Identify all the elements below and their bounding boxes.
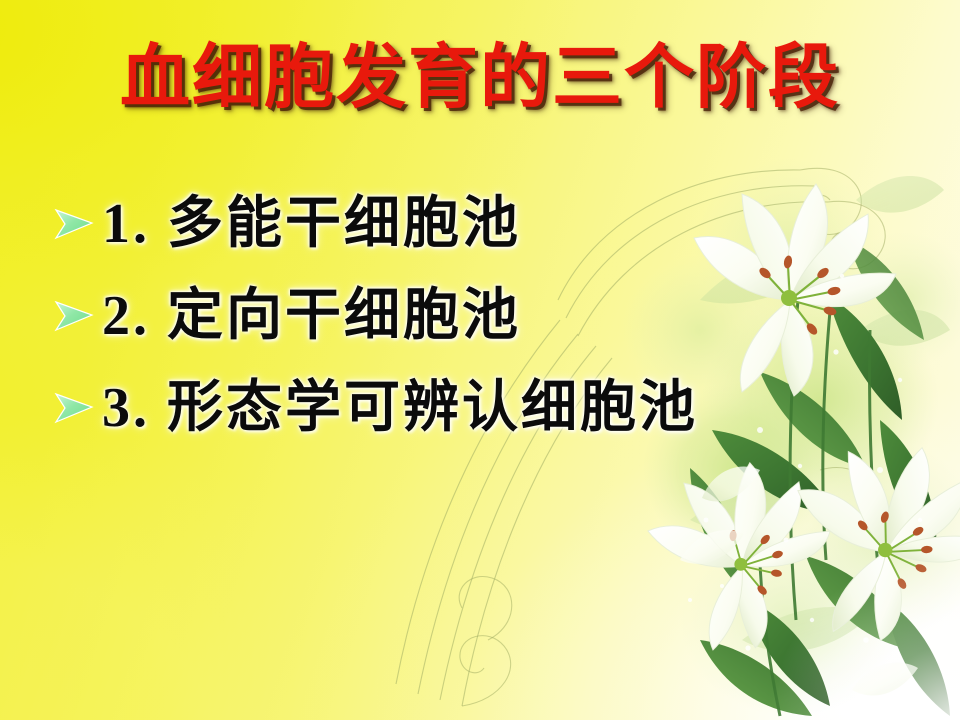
bullet-item-2: 2. 定向干细胞池 [52, 270, 912, 362]
bullet-item-3-label: 3. 形态学可辨认细胞池 [102, 380, 698, 436]
arrow-right-triangle-icon [52, 296, 98, 336]
bullet-item-1-label: 1. 多能干细胞池 [102, 196, 521, 252]
arrow-right-triangle-icon [52, 204, 98, 244]
bullet-item-2-label: 2. 定向干细胞池 [102, 288, 521, 344]
presentation-slide: 血细胞发育的三个阶段 1. 多能干细胞池 [0, 0, 960, 720]
slide-title-container: 血细胞发育的三个阶段 [0, 42, 960, 116]
bullet-list: 1. 多能干细胞池 2. 定向干细胞池 [52, 178, 912, 454]
slide-title: 血细胞发育的三个阶段 [120, 42, 840, 116]
bullet-item-1: 1. 多能干细胞池 [52, 178, 912, 270]
arrow-right-triangle-icon [52, 388, 98, 428]
bullet-item-3: 3. 形态学可辨认细胞池 [52, 362, 912, 454]
